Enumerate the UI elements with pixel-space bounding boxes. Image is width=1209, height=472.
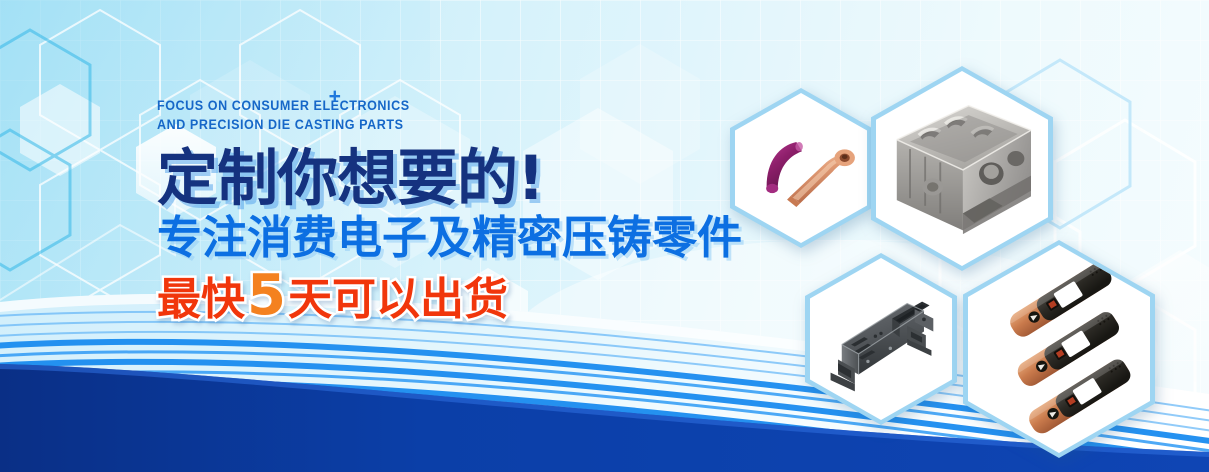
promo-banner: FOCUS ON CONSUMER ELECTRONICS + AND PREC… bbox=[0, 0, 1209, 472]
promo-suffix: 天可以出货 bbox=[288, 274, 508, 325]
headline-text-block: FOCUS ON CONSUMER ELECTRONICS + AND PREC… bbox=[157, 96, 742, 327]
eyebrow-line-2: AND PRECISION DIE CASTING PARTS bbox=[157, 117, 404, 132]
promo-line: 最快5天可以出货 bbox=[157, 269, 742, 327]
product-hex-anodized-handle-and-copper-arm[interactable] bbox=[730, 88, 872, 248]
product-hex-copper-black-device-housings[interactable] bbox=[963, 240, 1155, 458]
page-subtitle: 专注消费电子及精密压铸零件 bbox=[157, 210, 742, 265]
product-hex-grey-metal-enclosure[interactable] bbox=[805, 253, 957, 425]
promo-prefix: 最快 bbox=[157, 274, 245, 325]
page-title: 定制你想要的! bbox=[157, 144, 742, 214]
promo-number: 5 bbox=[245, 263, 288, 328]
plus-icon: + bbox=[329, 87, 342, 106]
hexagon-accent-outline bbox=[0, 30, 90, 270]
eyebrow-text: FOCUS ON CONSUMER ELECTRONICS + AND PREC… bbox=[157, 96, 701, 134]
eyebrow-line-1: FOCUS ON CONSUMER ELECTRONICS bbox=[157, 98, 410, 113]
